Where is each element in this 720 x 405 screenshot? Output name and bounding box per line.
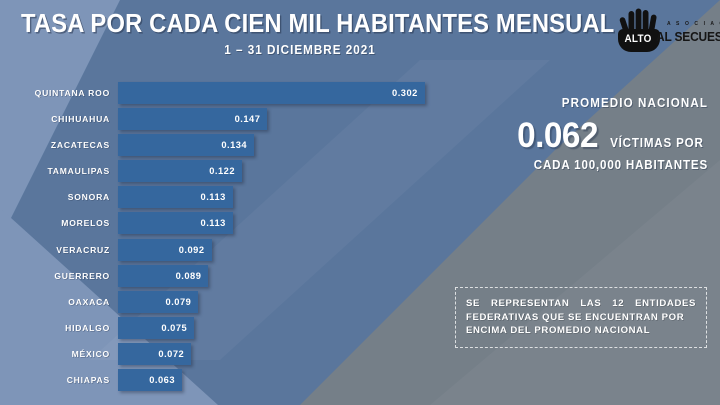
national-average-panel: PROMEDIO NACIONAL 0.062 VÍCTIMAS POR CAD…	[430, 96, 708, 172]
logo-asociacion-text: A S O C I A C I O N	[667, 21, 720, 27]
page-title: TASA POR CADA CIEN MIL HABITANTES MENSUA…	[21, 10, 579, 39]
bar-value-label: 0.302	[392, 82, 418, 104]
logo-alto-text: ALTO	[620, 33, 656, 45]
bar: 0.113	[118, 212, 233, 234]
bar-value-label: 0.063	[149, 369, 175, 391]
bar: 0.113	[118, 186, 233, 208]
bar-value-label: 0.134	[221, 134, 247, 156]
bar: 0.063	[118, 369, 182, 391]
note-box: SEREPRESENTANLAS12ENTIDADES FEDERATIVAS …	[455, 287, 707, 348]
national-average-unit-line1: VÍCTIMAS POR	[610, 136, 704, 150]
bar-value-label: 0.075	[161, 317, 187, 339]
note-word: 12	[612, 297, 624, 311]
chart-row: HIDALGO0.075	[0, 317, 440, 343]
bar-category-label: TAMAULIPAS	[0, 160, 110, 182]
note-line-3: ENCIMA DEL PROMEDIO NACIONAL	[466, 324, 696, 338]
background-wedge-right-sheen	[430, 160, 720, 405]
bar: 0.079	[118, 291, 198, 313]
bar-category-label: SONORA	[0, 186, 110, 208]
bar-category-label: ZACATECAS	[0, 134, 110, 156]
bar-category-label: CHIAPAS	[0, 369, 110, 391]
national-average-caption: PROMEDIO NACIONAL	[452, 96, 708, 110]
bar-category-label: MORELOS	[0, 212, 110, 234]
chart-row: CHIAPAS0.063	[0, 369, 440, 395]
note-word: ENTIDADES	[635, 297, 696, 311]
note-word: SE	[466, 297, 480, 311]
bar: 0.302	[118, 82, 425, 104]
bar: 0.134	[118, 134, 254, 156]
bar-value-label: 0.072	[158, 343, 184, 365]
bar: 0.147	[118, 108, 267, 130]
bar-category-label: OAXACA	[0, 291, 110, 313]
bar-category-label: CHIHUAHUA	[0, 108, 110, 130]
bar-category-label: VERACRUZ	[0, 239, 110, 261]
page-subtitle: 1 – 31 DICIEMBRE 2021	[30, 42, 570, 57]
bar-value-label: 0.113	[201, 212, 226, 234]
chart-row: SONORA0.113	[0, 186, 440, 212]
bar-value-label: 0.147	[235, 108, 261, 130]
chart-row: ZACATECAS0.134	[0, 134, 440, 160]
national-average-unit-line2: CADA 100,000 HABITANTES	[452, 158, 708, 172]
chart-row: QUINTANA ROO0.302	[0, 82, 440, 108]
organization-logo: ALTO A S O C I A C I O N AL SECUESTRO	[610, 8, 714, 54]
chart-row: TAMAULIPAS0.122	[0, 160, 440, 186]
bar: 0.122	[118, 160, 242, 182]
bar-category-label: GUERRERO	[0, 265, 110, 287]
bar: 0.089	[118, 265, 208, 287]
note-word: LAS	[580, 297, 601, 311]
bar: 0.075	[118, 317, 194, 339]
bar-value-label: 0.089	[176, 265, 202, 287]
chart-row: VERACRUZ0.092	[0, 239, 440, 265]
bar-value-label: 0.092	[179, 239, 205, 261]
chart-row: OAXACA0.079	[0, 291, 440, 317]
national-average-value: 0.062	[517, 116, 598, 156]
chart-row: MORELOS0.113	[0, 212, 440, 238]
infographic-canvas: TASA POR CADA CIEN MIL HABITANTES MENSUA…	[0, 0, 720, 405]
national-average-value-row: 0.062 VÍCTIMAS POR	[430, 116, 708, 156]
bar-chart: QUINTANA ROO0.302CHIHUAHUA0.147ZACATECAS…	[0, 82, 440, 396]
note-line-1: SEREPRESENTANLAS12ENTIDADES	[466, 297, 696, 311]
note-line-2: FEDERATIVAS QUE SE ENCUENTRAN POR	[466, 311, 696, 325]
logo-name-text: AL SECUESTRO	[656, 29, 720, 44]
hand-stop-icon	[618, 8, 660, 52]
chart-row: MÉXICO0.072	[0, 343, 440, 369]
bar-category-label: MÉXICO	[0, 343, 110, 365]
bar-category-label: QUINTANA ROO	[0, 82, 110, 104]
chart-row: CHIHUAHUA0.147	[0, 108, 440, 134]
note-word: REPRESENTAN	[491, 297, 569, 311]
bar: 0.072	[118, 343, 191, 365]
bar-category-label: HIDALGO	[0, 317, 110, 339]
bar-value-label: 0.079	[166, 291, 192, 313]
chart-row: GUERRERO0.089	[0, 265, 440, 291]
bar-value-label: 0.113	[201, 186, 226, 208]
bar: 0.092	[118, 239, 212, 261]
bar-value-label: 0.122	[209, 160, 235, 182]
